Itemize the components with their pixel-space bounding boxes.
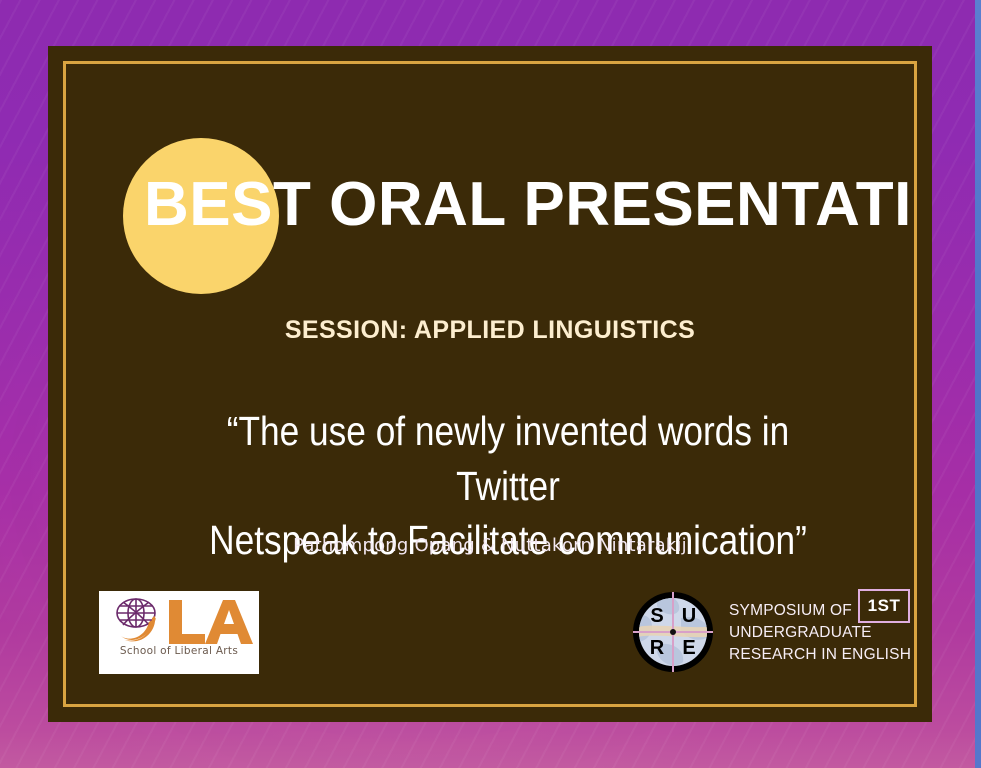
sure-globe-icon: S U R E	[629, 588, 717, 676]
sure-text-line-3: RESEARCH IN ENGLISH	[729, 644, 911, 666]
svg-text:E: E	[682, 637, 695, 659]
sla-logo-caption: School of Liberal Arts	[99, 645, 259, 657]
authors-line: Pathompong Opang & Nuttakorn Nintarakij	[66, 535, 914, 556]
rank-badge: 1ST	[858, 589, 910, 623]
svg-text:R: R	[650, 637, 665, 659]
certificate-frame: BEST ORAL PRESENTATION SESSION: APPLIED …	[48, 46, 932, 722]
right-edge-strip	[975, 0, 981, 768]
award-headline: BEST ORAL PRESENTATION	[144, 174, 914, 236]
certificate-frame-gold-border: BEST ORAL PRESENTATION SESSION: APPLIED …	[63, 61, 917, 707]
headline-best-word: BEST	[144, 170, 311, 239]
session-label: SESSION: APPLIED LINGUISTICS	[66, 316, 914, 345]
headline-rest-words: ORAL PRESENTATION	[329, 170, 914, 239]
headline-spacer	[311, 170, 329, 239]
certificate-content: BEST ORAL PRESENTATION SESSION: APPLIED …	[66, 64, 914, 704]
svg-text:S: S	[650, 605, 663, 627]
paper-title-line-1: “The use of newly invented words in Twit…	[173, 404, 844, 513]
sla-logo-mark	[99, 596, 259, 648]
headline-row: BEST ORAL PRESENTATION	[66, 130, 914, 295]
svg-text:U: U	[682, 605, 696, 627]
sure-text-line-2: UNDERGRADUATE	[729, 622, 911, 644]
sla-logo: School of Liberal Arts	[99, 591, 259, 674]
award-slide: BEST ORAL PRESENTATION SESSION: APPLIED …	[0, 0, 981, 768]
